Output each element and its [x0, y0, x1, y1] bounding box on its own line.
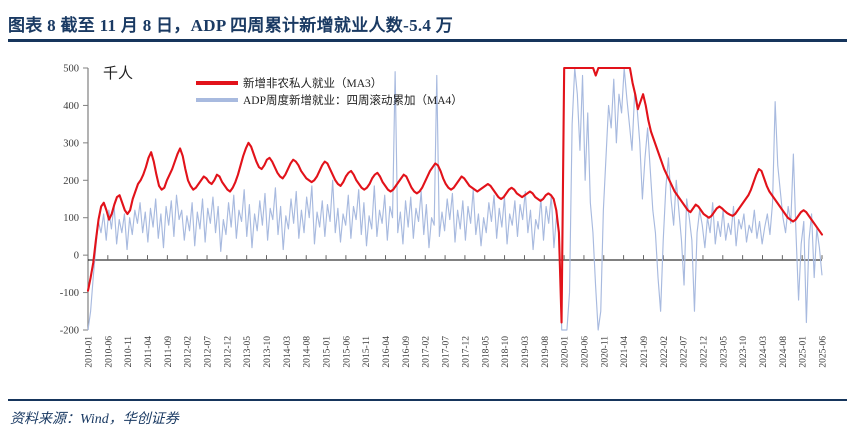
y-axis-unit-label: 千人 [103, 62, 133, 83]
svg-text:2024-08: 2024-08 [779, 336, 789, 368]
svg-text:-100: -100 [60, 288, 79, 299]
svg-text:2012-02: 2012-02 [184, 336, 194, 368]
svg-text:2023-05: 2023-05 [719, 336, 729, 368]
svg-text:2023-10: 2023-10 [739, 336, 749, 368]
legend-label-blue: ADP周度新增就业：四周滚动累加（MA4） [243, 92, 463, 108]
svg-text:2020-06: 2020-06 [580, 336, 590, 368]
svg-text:2024-03: 2024-03 [759, 336, 769, 368]
svg-text:2013-05: 2013-05 [243, 336, 253, 368]
legend-swatch-blue [196, 98, 238, 102]
svg-text:2020-11: 2020-11 [600, 336, 610, 368]
svg-text:2022-12: 2022-12 [699, 336, 709, 368]
page-title: 图表 8 截至 11 月 8 日，ADP 四周累计新增就业人数-5.4 万 [8, 11, 453, 36]
svg-text:2016-09: 2016-09 [402, 336, 412, 368]
svg-text:300: 300 [63, 138, 79, 149]
chart-figure: 图表 8 截至 11 月 8 日，ADP 四周累计新增就业人数-5.4 万 -2… [0, 0, 855, 441]
svg-text:2014-03: 2014-03 [283, 336, 293, 368]
footer-divider [8, 399, 847, 401]
svg-text:2022-02: 2022-02 [660, 336, 670, 368]
legend-label-red: 新增非农私人就业（MA3） [243, 75, 382, 91]
x-axis-ticks: 2010-012010-062010-112011-042011-092012-… [85, 255, 829, 368]
legend-swatch-red [196, 81, 238, 85]
svg-text:2020-01: 2020-01 [561, 336, 571, 368]
svg-text:2014-08: 2014-08 [303, 336, 313, 368]
svg-text:100: 100 [63, 213, 79, 224]
svg-text:2016-04: 2016-04 [382, 336, 392, 368]
svg-text:500: 500 [63, 64, 79, 75]
svg-text:2013-10: 2013-10 [263, 336, 273, 368]
svg-text:2025-06: 2025-06 [819, 336, 829, 368]
svg-text:2015-11: 2015-11 [362, 336, 372, 368]
svg-text:2018-05: 2018-05 [481, 336, 491, 368]
svg-text:200: 200 [63, 176, 79, 187]
svg-text:2019-08: 2019-08 [541, 336, 551, 368]
svg-text:2012-12: 2012-12 [223, 336, 233, 368]
svg-text:-200: -200 [60, 326, 79, 337]
title-bar: 图表 8 截至 11 月 8 日，ADP 四周累计新增就业人数-5.4 万 [8, 10, 847, 36]
svg-text:2015-06: 2015-06 [342, 336, 352, 368]
svg-text:2022-07: 2022-07 [680, 336, 690, 368]
legend-item: ADP周度新增就业：四周滚动累加（MA4） [196, 92, 526, 108]
svg-text:2021-04: 2021-04 [620, 336, 630, 368]
svg-text:2021-09: 2021-09 [640, 336, 650, 368]
svg-text:2011-04: 2011-04 [144, 336, 154, 368]
svg-text:2017-07: 2017-07 [442, 336, 452, 368]
legend-item: 新增非农私人就业（MA3） [196, 75, 526, 91]
svg-text:2015-01: 2015-01 [323, 336, 333, 368]
svg-text:2019-03: 2019-03 [521, 336, 531, 368]
svg-text:2025-01: 2025-01 [799, 336, 809, 368]
legend: 新增非农私人就业（MA3） ADP周度新增就业：四周滚动累加（MA4） [196, 75, 526, 109]
y-axis-ticks: -200-1000100200300400500 [60, 64, 88, 337]
svg-text:2017-02: 2017-02 [422, 336, 432, 368]
svg-text:2010-01: 2010-01 [85, 336, 95, 368]
svg-text:2011-09: 2011-09 [164, 336, 174, 368]
svg-text:2018-10: 2018-10 [501, 336, 511, 368]
svg-text:2010-11: 2010-11 [124, 336, 134, 368]
svg-text:2017-12: 2017-12 [461, 336, 471, 368]
svg-text:2012-07: 2012-07 [204, 336, 214, 368]
svg-text:400: 400 [63, 101, 79, 112]
svg-text:0: 0 [74, 251, 79, 262]
source-note: 资料来源：Wind，华创证券 [10, 408, 179, 428]
svg-text:2010-06: 2010-06 [104, 336, 114, 368]
